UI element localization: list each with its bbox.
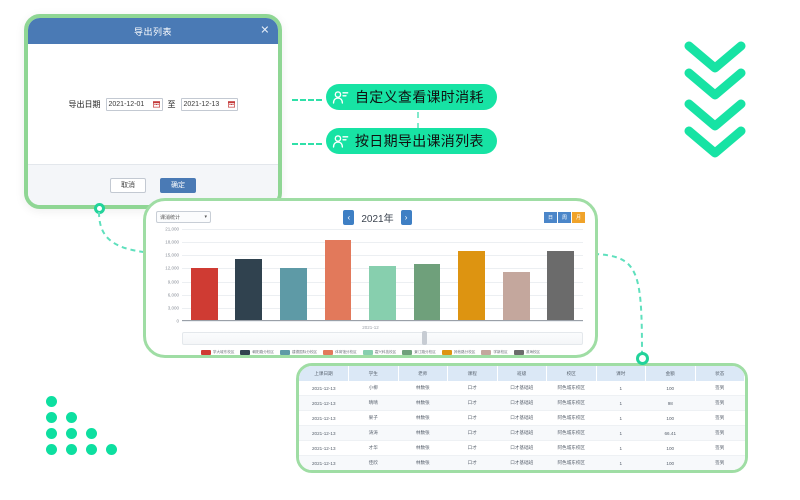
- table-cell: 涛涛: [349, 426, 399, 441]
- legend-item[interactable]: 景江路分校区: [402, 350, 436, 355]
- legend-item[interactable]: 朝阳路分校区: [240, 350, 274, 355]
- table-cell: 2021-12-13: [299, 411, 349, 426]
- legend-item[interactable]: 学新校区: [481, 350, 507, 355]
- chart-filter-select[interactable]: 课消统计 ▾: [156, 211, 211, 223]
- bar[interactable]: [458, 251, 485, 320]
- callout-dash-2: [292, 143, 322, 145]
- bar-slot: [360, 229, 405, 320]
- table-cell: 签到: [695, 411, 745, 426]
- table-cell: 小柳: [349, 381, 399, 396]
- table-row[interactable]: 2021-12-13小柳林数张口才口才基础班阿色城东校区1100签到: [299, 381, 745, 396]
- table-cell: 100: [646, 411, 696, 426]
- confirm-button[interactable]: 确定: [160, 178, 196, 193]
- chart-filter-value: 课消统计: [160, 214, 180, 221]
- bar[interactable]: [235, 259, 262, 320]
- legend-swatch: [240, 350, 250, 355]
- table-cell: 林数张: [398, 426, 448, 441]
- legend-swatch: [402, 350, 412, 355]
- y-axis-tick: 6,000: [168, 292, 179, 297]
- calendar-icon[interactable]: [228, 101, 235, 108]
- legend-item[interactable]: 学大城东校区: [201, 350, 235, 355]
- start-date-input[interactable]: 2021-12-01: [106, 98, 163, 111]
- bar-series: [182, 229, 583, 320]
- bar-slot: [271, 229, 316, 320]
- table-cell: 签到: [695, 396, 745, 411]
- table-cell: 2021-12-13: [299, 426, 349, 441]
- legend-swatch: [280, 350, 290, 355]
- table-header-cell[interactable]: 课程: [448, 366, 498, 381]
- table-cell: 阿色城东校区: [547, 381, 597, 396]
- legend-swatch: [442, 350, 452, 355]
- table-cell: 阿色城东校区: [547, 441, 597, 456]
- legend-swatch: [363, 350, 373, 355]
- y-axis-tick: 21,000: [165, 227, 179, 232]
- table-body: 2021-12-13小柳林数张口才口才基础班阿色城东校区1100签到2021-1…: [299, 381, 745, 471]
- table-row[interactable]: 2021-12-13果子林数张口才口才基础班阿色城东校区1100签到: [299, 411, 745, 426]
- table-cell: 100: [646, 381, 696, 396]
- table-cell: 口才基础班: [497, 456, 547, 471]
- year-navigator: ‹ 2021年 ›: [343, 210, 411, 225]
- table-cell: 口才: [448, 441, 498, 456]
- range-toggle-group: 日 周 月: [544, 212, 585, 223]
- table-header-cell[interactable]: 学生: [349, 366, 399, 381]
- table-cell: 签到: [695, 456, 745, 471]
- table-cell: 阿色城东校区: [547, 411, 597, 426]
- table-cell: 口才基础班: [497, 441, 547, 456]
- legend-item[interactable]: 建德国际分校区: [280, 350, 317, 355]
- date-range-row: 导出日期 2021-12-01 至 2021-12-13: [69, 98, 238, 111]
- table-cell: 签到: [695, 441, 745, 456]
- table-cell: 签到: [695, 381, 745, 396]
- table-cell: 口才基础班: [497, 426, 547, 441]
- chevron-down-decor-icon: [684, 67, 746, 101]
- bar[interactable]: [280, 268, 307, 320]
- bar[interactable]: [503, 272, 530, 320]
- table-row[interactable]: 2021-12-13佳欣林数张口才口才基础班阿色城东校区1100签到: [299, 456, 745, 471]
- callout-pill-2: 按日期导出课消列表: [326, 128, 497, 154]
- user-list-icon: [332, 89, 349, 106]
- table-header-cell[interactable]: 课时: [596, 366, 646, 381]
- legend-item[interactable]: 体育馆分校区: [323, 350, 357, 355]
- dialog-title: 导出列表: [134, 25, 172, 38]
- end-date-value: 2021-12-13: [184, 101, 220, 108]
- table-cell: 口才: [448, 381, 498, 396]
- legend-label: 滨海校区: [526, 350, 540, 355]
- table-header-cell[interactable]: 班级: [497, 366, 547, 381]
- y-axis-tick: 9,000: [168, 279, 179, 284]
- close-icon[interactable]: ✕: [260, 26, 270, 37]
- callout-vertical-dash: [417, 112, 419, 129]
- dialog-title-bar: 导出列表 ✕: [28, 18, 278, 44]
- table-cell: 果子: [349, 411, 399, 426]
- end-date-input[interactable]: 2021-12-13: [181, 98, 238, 111]
- callout-dash-1: [292, 99, 322, 101]
- bar[interactable]: [547, 251, 574, 320]
- table-cell: 阿色城东校区: [547, 396, 597, 411]
- bar-slot: [449, 229, 494, 320]
- table-row[interactable]: 2021-12-13晴晴林数张口才口才基础班阿色城东校区198签到: [299, 396, 745, 411]
- table-cell: 口才基础班: [497, 411, 547, 426]
- table-cell: 林数张: [398, 441, 448, 456]
- cancel-button[interactable]: 取消: [110, 178, 146, 193]
- chart-legend: 学大城东校区朝阳路分校区建德国际分校区体育馆分校区嘉兴科技校区景江路分校区其他路…: [156, 350, 585, 355]
- legend-label: 嘉兴科技校区: [375, 350, 397, 355]
- bar-slot: [316, 229, 361, 320]
- callout-label: 按日期导出课消列表: [355, 131, 484, 151]
- table-cell: 才华: [349, 441, 399, 456]
- chart-panel: 课消统计 ▾ ‹ 2021年 › 日 周 月 03,0006,0009,0001…: [143, 198, 598, 358]
- connector-line-chart-table: [590, 250, 660, 360]
- table-cell: 口才: [448, 411, 498, 426]
- legend-swatch: [201, 350, 211, 355]
- y-axis-tick: 12,000: [165, 266, 179, 271]
- table-cell: 佳欣: [349, 456, 399, 471]
- table-cell: 2021-12-13: [299, 381, 349, 396]
- year-label: 2021年: [361, 210, 393, 225]
- dialog-body: 导出日期 2021-12-01 至 2021-12-13: [28, 44, 278, 165]
- table-cell: 口才: [448, 456, 498, 471]
- table-cell: 100: [646, 456, 696, 471]
- user-list-icon: [332, 133, 349, 150]
- table-cell: 林数张: [398, 456, 448, 471]
- y-axis-tick: 15,000: [165, 253, 179, 258]
- table-header-cell[interactable]: 状态: [695, 366, 745, 381]
- table-cell: 1: [596, 456, 646, 471]
- legend-item[interactable]: 滨海校区: [514, 350, 540, 355]
- table-cell: 2021-12-13: [299, 456, 349, 471]
- scrollbar-handle[interactable]: [422, 331, 427, 345]
- bar-slot: [494, 229, 539, 320]
- bar[interactable]: [191, 268, 218, 320]
- chevron-left-icon[interactable]: ‹: [343, 210, 354, 225]
- poster-canvas: 导出列表 ✕ 导出日期 2021-12-01 至 2021-12-13: [0, 0, 800, 500]
- date-range-separator: 至: [168, 99, 176, 110]
- table-cell: 口才基础班: [497, 396, 547, 411]
- table-cell: 100: [646, 441, 696, 456]
- y-axis-tick: 3,000: [168, 305, 179, 310]
- table-cell: 2021-12-13: [299, 396, 349, 411]
- grid-line: [182, 321, 583, 322]
- calendar-icon[interactable]: [153, 101, 160, 108]
- y-axis-tick: 0: [176, 319, 179, 324]
- table-cell: 1: [596, 426, 646, 441]
- chart-toolbar: 课消统计 ▾ ‹ 2021年 › 日 周 月: [156, 209, 585, 225]
- table-cell: 98: [646, 396, 696, 411]
- legend-item[interactable]: 嘉兴科技校区: [363, 350, 397, 355]
- legend-label: 建德国际分校区: [292, 350, 317, 355]
- legend-swatch: [514, 350, 524, 355]
- horizontal-scrollbar[interactable]: [182, 332, 583, 345]
- table-cell: 林数张: [398, 381, 448, 396]
- chevron-down-decor-icon: [684, 125, 746, 159]
- table-cell: 1: [596, 381, 646, 396]
- legend-label: 学新校区: [493, 350, 507, 355]
- bar-slot: [227, 229, 272, 320]
- y-axis-tick: 18,000: [165, 240, 179, 245]
- range-toggle-week[interactable]: 周: [558, 212, 572, 223]
- table-cell: 阿色城东校区: [547, 456, 597, 471]
- bar[interactable]: [325, 240, 352, 320]
- legend-swatch: [323, 350, 333, 355]
- x-axis-label: 2021-12: [362, 325, 379, 330]
- table-row[interactable]: 2021-12-13涛涛林数张口才口才基础班阿色城东校区166.41签到: [299, 426, 745, 441]
- table-cell: 1: [596, 411, 646, 426]
- legend-label: 学大城东校区: [213, 350, 235, 355]
- bar-slot: [539, 229, 584, 320]
- table-header-cell[interactable]: 上课日期: [299, 366, 349, 381]
- table-cell: 林数张: [398, 396, 448, 411]
- course-records-table-panel: 上课日期学生老师课程班级校区课时金额状态 2021-12-13小柳林数张口才口才…: [296, 363, 748, 473]
- legend-label: 景江路分校区: [414, 350, 436, 355]
- course-records-table: 上课日期学生老师课程班级校区课时金额状态 2021-12-13小柳林数张口才口才…: [299, 366, 745, 471]
- bar[interactable]: [414, 264, 441, 320]
- range-toggle-month[interactable]: 月: [572, 212, 585, 223]
- y-axis: 03,0006,0009,00012,00015,00018,00021,000: [156, 229, 182, 321]
- bar[interactable]: [369, 266, 396, 320]
- bar-slot: [182, 229, 227, 320]
- table-cell: 1: [596, 396, 646, 411]
- table-header-cell[interactable]: 老师: [398, 366, 448, 381]
- table-row[interactable]: 2021-12-13才华林数张口才口才基础班阿色城东校区1100签到: [299, 441, 745, 456]
- date-range-label: 导出日期: [69, 99, 101, 110]
- connector-anchor-table: [636, 352, 649, 365]
- table-cell: 66.41: [646, 426, 696, 441]
- table-cell: 晴晴: [349, 396, 399, 411]
- callout-pill-1: 自定义查看课时消耗: [326, 84, 497, 110]
- range-toggle-day[interactable]: 日: [544, 212, 558, 223]
- legend-label: 朝阳路分校区: [252, 350, 274, 355]
- chevron-decor-group: [684, 40, 754, 190]
- export-dialog: 导出列表 ✕ 导出日期 2021-12-01 至 2021-12-13: [24, 14, 282, 209]
- table-cell: 口才基础班: [497, 381, 547, 396]
- legend-item[interactable]: 其他路分校区: [442, 350, 476, 355]
- table-header-cell[interactable]: 校区: [547, 366, 597, 381]
- table-header-row: 上课日期学生老师课程班级校区课时金额状态: [299, 366, 745, 381]
- start-date-value: 2021-12-01: [109, 101, 145, 108]
- table-cell: 1: [596, 441, 646, 456]
- legend-label: 其他路分校区: [454, 350, 476, 355]
- table-cell: 口才: [448, 426, 498, 441]
- legend-swatch: [481, 350, 491, 355]
- callout-label: 自定义查看课时消耗: [355, 87, 484, 107]
- table-cell: 2021-12-13: [299, 441, 349, 456]
- table-cell: 签到: [695, 426, 745, 441]
- bar-chart-plot: 03,0006,0009,00012,00015,00018,00021,000…: [156, 229, 585, 321]
- dot-grid-decor-icon: [46, 396, 130, 458]
- chevron-down-icon: ▾: [204, 214, 207, 220]
- table-cell: 林数张: [398, 411, 448, 426]
- x-axis-baseline: [182, 320, 583, 321]
- legend-label: 体育馆分校区: [335, 350, 357, 355]
- table-cell: 口才: [448, 396, 498, 411]
- chevron-right-icon[interactable]: ›: [401, 210, 412, 225]
- table-header-cell[interactable]: 金额: [646, 366, 696, 381]
- table-cell: 阿色城东校区: [547, 426, 597, 441]
- bar-slot: [405, 229, 450, 320]
